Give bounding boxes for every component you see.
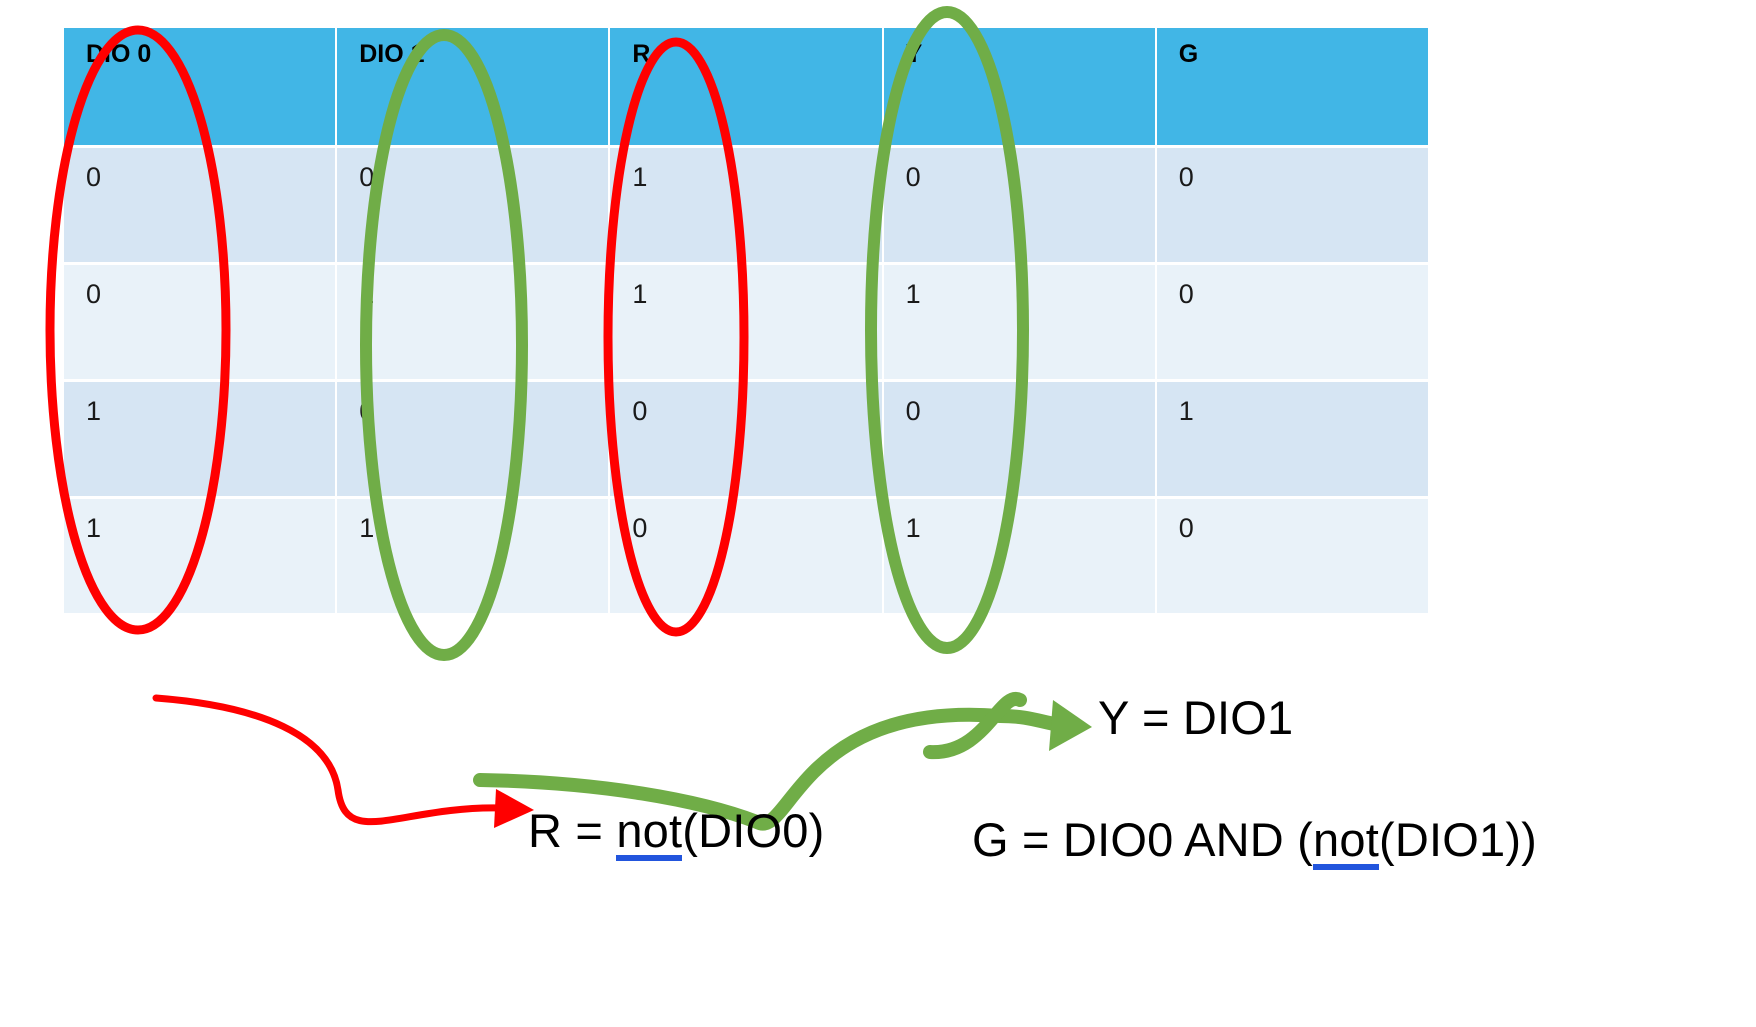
formula-g-prefix: G = DIO0 AND ( [972,813,1313,866]
cell-dio1: 1 [337,499,608,613]
formula-r-not: not [616,804,682,861]
cell-y: 1 [884,499,1155,613]
formula-y: Y = DIO1 [1098,690,1293,745]
cell-dio1: 0 [337,382,608,496]
cell-r: 1 [610,265,881,379]
cell-g: 0 [1157,499,1428,613]
cell-y: 1 [884,265,1155,379]
cell-dio1: 1 [337,265,608,379]
cell-dio0: 1 [64,499,335,613]
cell-g: 0 [1157,148,1428,262]
formula-r-prefix: R = [528,804,616,857]
column-header-dio0: DIO 0 [64,28,335,145]
slide-canvas: DIO 0 DIO 1 R Y G 0 0 1 0 0 0 1 1 1 0 [0,0,1756,1027]
cell-y: 0 [884,382,1155,496]
formula-g-not: not [1313,813,1379,870]
formula-r: R = not(DIO0) [528,803,824,858]
cell-dio0: 0 [64,148,335,262]
truth-table: DIO 0 DIO 1 R Y G 0 0 1 0 0 0 1 1 1 0 [62,25,1430,616]
formula-g: G = DIO0 AND (not(DIO1)) [972,812,1537,867]
column-header-dio1: DIO 1 [337,28,608,145]
green-arrowhead-icon [1049,700,1092,751]
red-arrow-connector-icon [156,698,500,822]
green-arrow-connector-y-icon [930,699,1020,752]
column-header-g: G [1157,28,1428,145]
cell-r: 0 [610,499,881,613]
cell-r: 1 [610,148,881,262]
table-header-row: DIO 0 DIO 1 R Y G [64,28,1428,145]
table-row: 0 0 1 0 0 [64,148,1428,262]
cell-g: 0 [1157,265,1428,379]
cell-y: 0 [884,148,1155,262]
cell-dio0: 0 [64,265,335,379]
cell-g: 1 [1157,382,1428,496]
table-row: 1 1 0 1 0 [64,499,1428,613]
column-header-r: R [610,28,881,145]
table-row: 1 0 0 0 1 [64,382,1428,496]
formula-r-suffix: (DIO0) [682,804,824,857]
cell-dio0: 1 [64,382,335,496]
column-header-y: Y [884,28,1155,145]
formula-g-suffix: (DIO1)) [1379,813,1537,866]
cell-dio1: 0 [337,148,608,262]
cell-r: 0 [610,382,881,496]
table-row: 0 1 1 1 0 [64,265,1428,379]
